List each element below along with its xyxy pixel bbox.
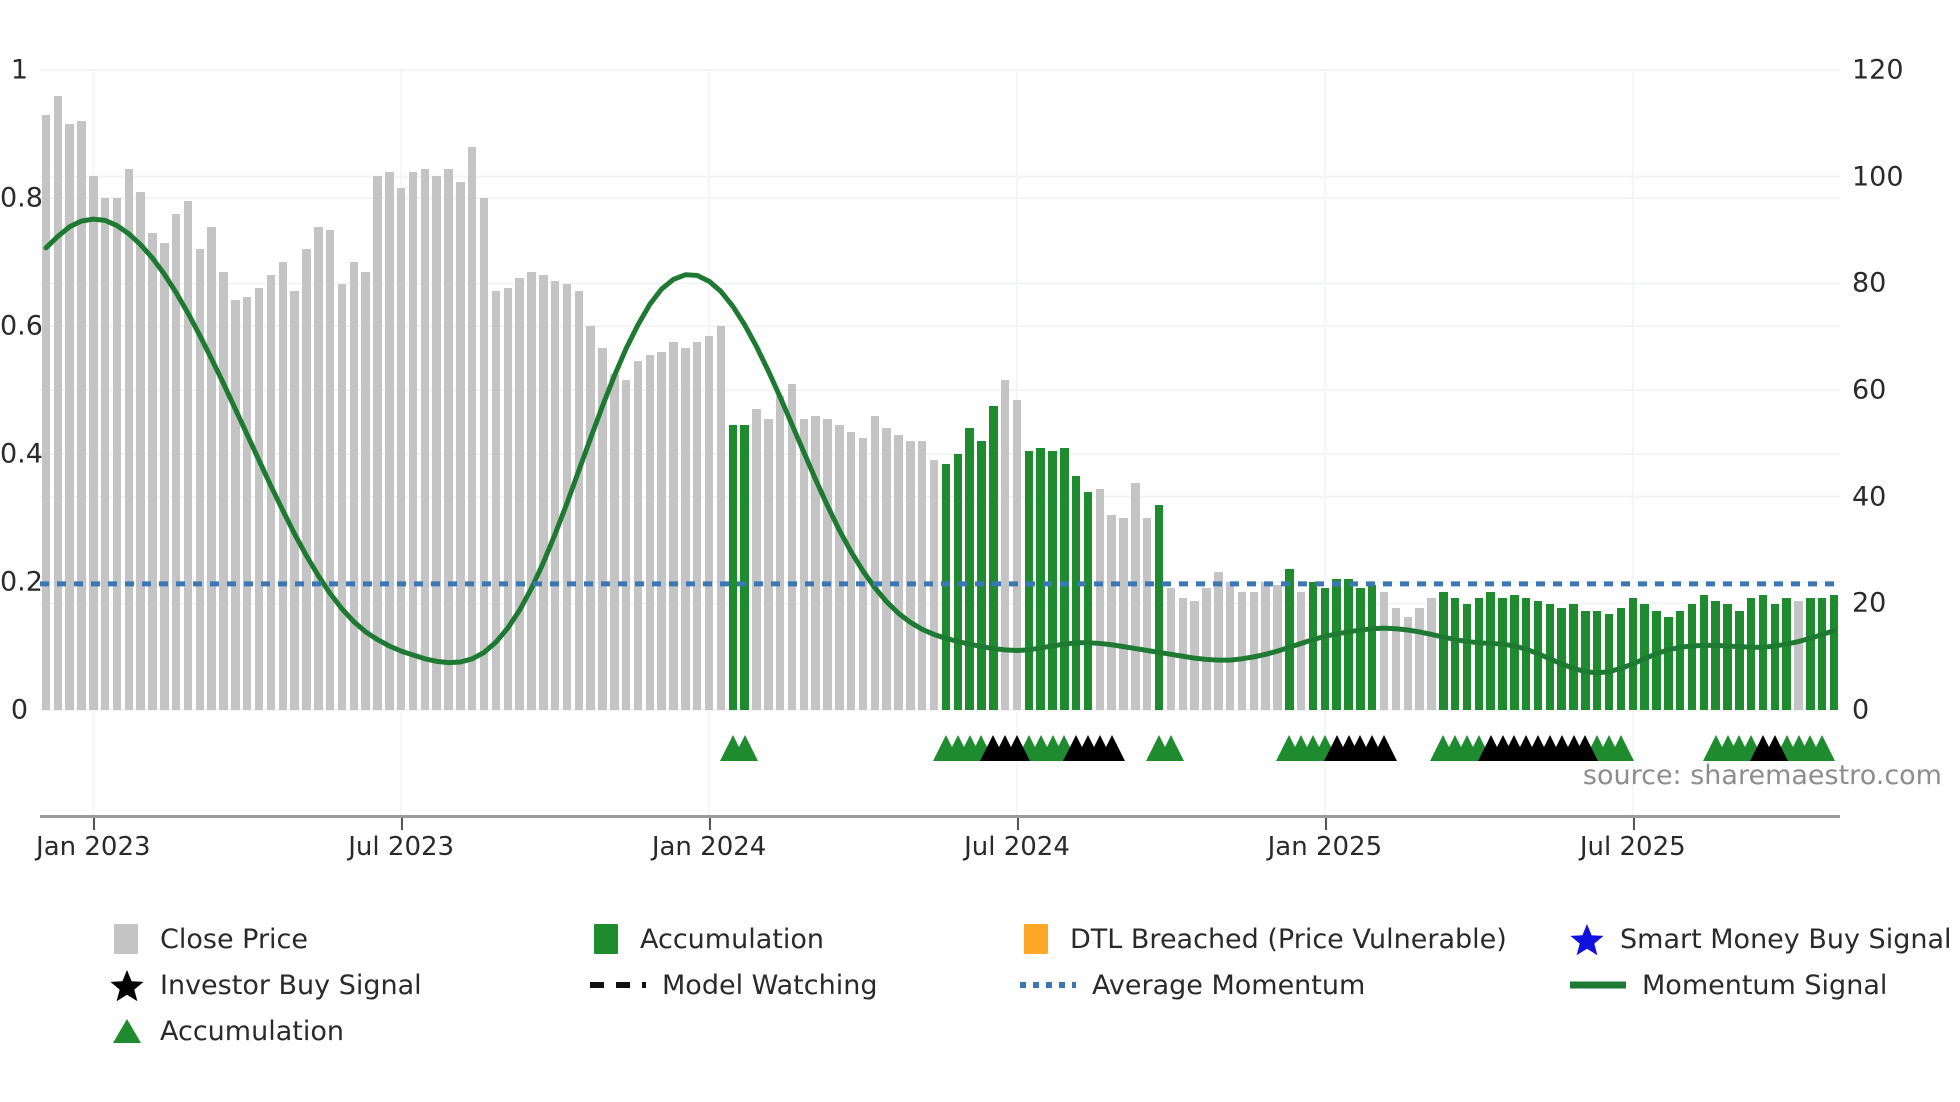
x-axis-tick-mark [1017,818,1019,830]
x-axis-tick: Jul 2025 [1580,832,1686,862]
legend-item-investor-buy-signal-star[interactable]: Investor Buy Signal [108,966,588,1004]
legend-item-average-momentum-dotted-line[interactable]: Average Momentum [1018,966,1568,1004]
x-axis-tick: Jul 2023 [348,832,454,862]
legend-item-model-watching-dashed-line[interactable]: Model Watching [588,966,1018,1004]
dotted-line-icon [1018,968,1078,1002]
legend-label: Investor Buy Signal [160,970,422,1001]
star-icon [1568,922,1606,956]
chart-plot-area [40,70,1840,710]
legend-label: Model Watching [662,970,877,1001]
legend-label: Accumulation [160,1016,344,1047]
legend-square-icon [1018,922,1056,956]
accumulation-triangle-marker [1608,735,1634,761]
star-icon [108,968,146,1002]
line-series-layer [40,70,1840,710]
legend-label: DTL Breached (Price Vulnerable) [1070,924,1507,955]
accumulation-triangle-marker [1158,735,1184,761]
investor-buy-triangle-marker [1371,735,1397,761]
investor-buy-triangle-marker [1004,735,1030,761]
legend-item-momentum-signal-solid-line[interactable]: Momentum Signal [1568,966,1868,1004]
chart-page: source: sharemaestro.com Close PriceAccu… [0,0,1960,1102]
x-axis-tick-mark [709,818,711,830]
triangle-icon [108,1014,146,1048]
y-axis-right-tick: 40 [1852,483,1886,510]
investor-buy-triangle-marker [1572,735,1598,761]
chart-legend: Close PriceAccumulationDTL Breached (Pri… [108,920,1868,1050]
investor-buy-triangle-marker [1762,735,1788,761]
solid-line-icon [1568,968,1628,1002]
y-axis-left-tick: 0.8 [0,185,28,212]
y-axis-left-tick: 0.4 [0,441,28,468]
legend-label: Close Price [160,924,308,955]
x-axis-line [40,815,1840,818]
x-axis-tick-mark [93,818,95,830]
legend-item-dtl-breached-price-vulnerable-square[interactable]: DTL Breached (Price Vulnerable) [1018,920,1568,958]
legend-item-close-price-square[interactable]: Close Price [108,920,588,958]
x-axis-tick: Jul 2024 [964,832,1070,862]
y-axis-right-tick: 60 [1852,377,1886,404]
accumulation-triangle-marker [1809,735,1835,761]
legend-label: Accumulation [640,924,824,955]
accumulation-triangle-marker [732,735,758,761]
investor-buy-triangle-marker [1099,735,1125,761]
y-axis-right-tick: 20 [1852,590,1886,617]
y-axis-right-tick: 80 [1852,270,1886,297]
momentum-signal-line [46,219,1834,673]
legend-item-smart-money-buy-signal-star[interactable]: Smart Money Buy Signal [1568,920,1868,958]
y-axis-left-tick: 0.6 [0,313,28,340]
x-axis-tick: Jan 2025 [1268,832,1383,862]
y-axis-left-tick: 1 [0,57,28,84]
y-axis-right-tick: 100 [1852,163,1904,190]
legend-square-icon [108,922,146,956]
x-axis-tick: Jan 2024 [652,832,767,862]
y-axis-left-tick: 0.2 [0,569,28,596]
swatch [1024,924,1048,954]
y-axis-left-tick: 0 [0,697,28,724]
swatch [114,924,138,954]
legend-square-icon [588,922,626,956]
dashed-line-icon [588,968,648,1002]
y-axis-right-tick: 0 [1852,697,1869,724]
swatch [594,924,618,954]
legend-item-accumulation-triangle[interactable]: Accumulation [108,1012,588,1050]
y-axis-right-tick: 120 [1852,57,1904,84]
legend-item-accumulation-square[interactable]: Accumulation [588,920,1018,958]
x-axis-tick-mark [1325,818,1327,830]
signal-marker-row [40,735,1840,775]
legend-label: Average Momentum [1092,970,1365,1001]
legend-label: Smart Money Buy Signal [1620,924,1952,955]
source-attribution: source: sharemaestro.com [1583,760,1942,791]
x-axis-tick-mark [401,818,403,830]
x-axis-tick: Jan 2023 [36,832,151,862]
x-axis-tick-mark [1633,818,1635,830]
legend-label: Momentum Signal [1642,970,1887,1001]
